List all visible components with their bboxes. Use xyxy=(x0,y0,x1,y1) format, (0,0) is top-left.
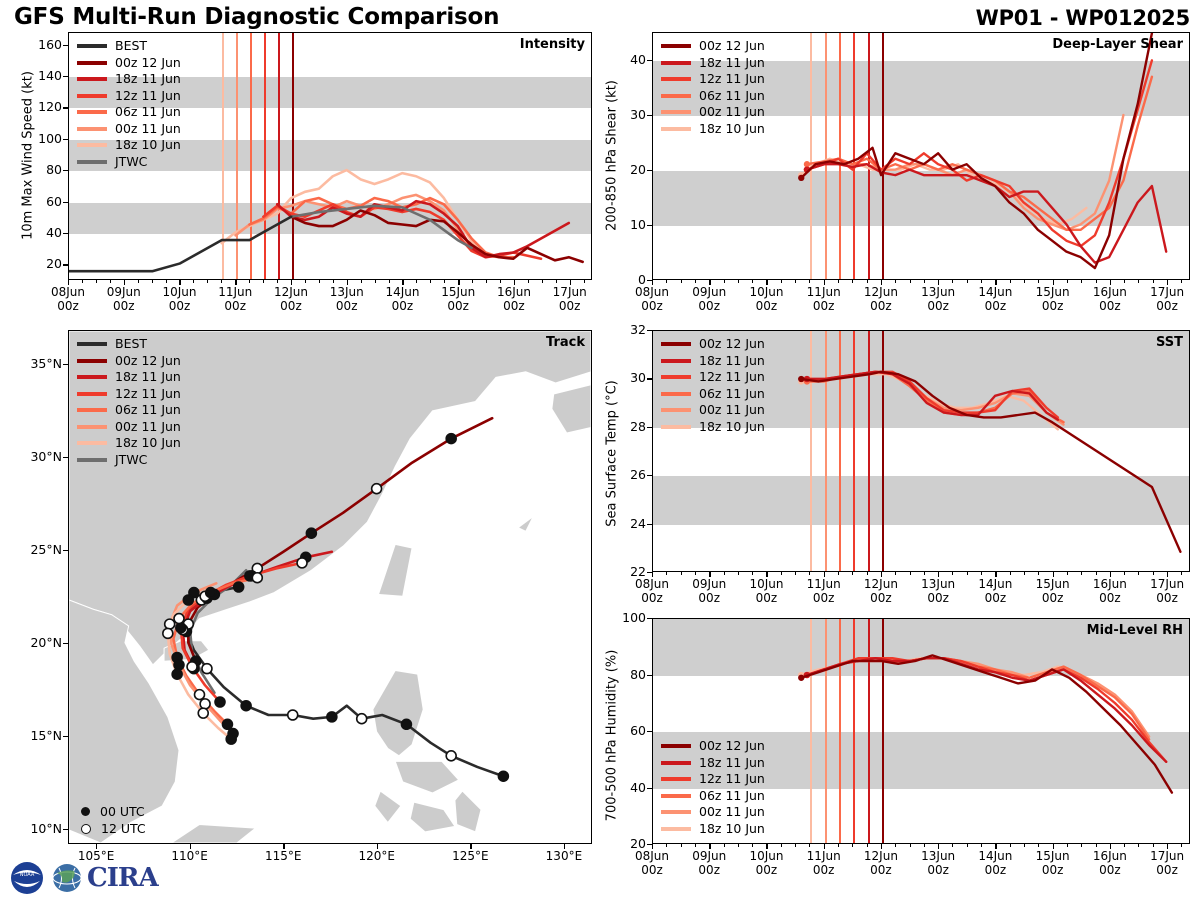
y-tick-mark xyxy=(647,330,652,331)
x-minor-tick xyxy=(666,280,667,283)
series-line-00z-12-jun xyxy=(801,655,1172,792)
series-line-00z-12-jun xyxy=(801,33,1152,268)
x-tick-mark xyxy=(1110,280,1111,285)
x-tick-day: 11Jun xyxy=(209,285,261,299)
legend-item-06z-11-jun: 06z 11 Jun xyxy=(77,402,181,419)
track-marker-00utc xyxy=(401,719,411,729)
lon-tick-mark xyxy=(190,844,191,849)
x-minor-tick xyxy=(695,280,696,283)
track-marker-12utc xyxy=(297,558,307,568)
x-tick-hour: 00z xyxy=(265,299,317,313)
x-tick-day: 13Jun xyxy=(321,285,373,299)
y-tick-label: 30 xyxy=(608,107,646,122)
legend-item-06z-11-jun: 06z 11 Jun xyxy=(77,104,181,121)
x-tick-mark xyxy=(652,844,653,849)
x-tick-hour: 00z xyxy=(42,299,94,313)
x-minor-tick xyxy=(681,572,682,575)
x-minor-tick xyxy=(924,572,925,575)
legend-color-swatch xyxy=(661,425,691,429)
x-minor-tick xyxy=(952,844,953,847)
x-tick-label: 10Jun00z xyxy=(740,285,792,313)
y-tick-mark xyxy=(647,524,652,525)
lon-tick-mark xyxy=(377,844,378,849)
y-tick-label: 30 xyxy=(608,370,646,385)
legend-item-00z-12-jun: 00z 12 Jun xyxy=(661,738,765,755)
x-tick-label: 15Jun00z xyxy=(1027,577,1079,605)
legend-color-swatch xyxy=(661,827,691,831)
x-minor-tick xyxy=(528,280,529,283)
x-tick-hour: 00z xyxy=(683,299,735,313)
y-tick-mark xyxy=(647,675,652,676)
x-minor-tick xyxy=(738,572,739,575)
legend-label: 18z 10 Jun xyxy=(699,823,765,836)
legend-label: 18z 10 Jun xyxy=(115,437,181,450)
lat-tick-label: 10°N xyxy=(16,821,62,836)
x-tick-label: 13Jun00z xyxy=(912,577,964,605)
x-tick-label: 09Jun00z xyxy=(683,849,735,877)
x-minor-tick xyxy=(809,844,810,847)
track-marker-12utc xyxy=(163,628,173,638)
track-marker-12utc xyxy=(165,619,175,629)
legend-color-swatch xyxy=(77,342,107,346)
x-tick-hour: 00z xyxy=(740,863,792,877)
lat-tick-label: 30°N xyxy=(16,449,62,464)
series-line-12z-11-jun xyxy=(807,60,1152,246)
y-tick-label: 160 xyxy=(24,37,62,52)
x-tick-label: 08Jun00z xyxy=(626,849,678,877)
series-line-12z-11-jun xyxy=(263,204,541,258)
x-tick-hour: 00z xyxy=(544,299,596,313)
legend-item-06z-11-jun: 06z 11 Jun xyxy=(661,386,765,403)
x-tick-day: 08Jun xyxy=(626,577,678,591)
track-map-panel[interactable]: Track BEST00z 12 Jun18z 11 Jun12z 11 Jun… xyxy=(68,330,592,844)
legend-label: 18z 10 Jun xyxy=(699,421,765,434)
x-minor-tick xyxy=(795,572,796,575)
x-minor-tick xyxy=(263,280,264,283)
x-tick-label: 14Jun00z xyxy=(969,577,1021,605)
series-line-00z-12-jun xyxy=(801,372,1180,552)
legend-item-00z-11-jun: 00z 11 Jun xyxy=(661,104,765,121)
x-minor-tick xyxy=(1124,844,1125,847)
lon-tick-label: 130°E xyxy=(534,849,594,863)
track-marker-00utc xyxy=(241,701,251,711)
track-marker-00utc xyxy=(306,528,316,538)
legend-item-18z-11-jun: 18z 11 Jun xyxy=(661,755,765,772)
y-tick-mark xyxy=(647,427,652,428)
x-tick-day: 15Jun xyxy=(1027,285,1079,299)
x-tick-mark xyxy=(709,280,710,285)
legend-item-18z-11-jun: 18z 11 Jun xyxy=(661,353,765,370)
legend-color-swatch xyxy=(661,408,691,412)
x-tick-label: 17Jun00z xyxy=(1141,849,1193,877)
x-tick-mark xyxy=(652,572,653,577)
track-marker-00utc xyxy=(226,734,236,744)
legend-color-swatch xyxy=(77,392,107,396)
x-tick-day: 11Jun xyxy=(798,285,850,299)
x-minor-tick xyxy=(910,280,911,283)
x-tick-label: 11Jun00z xyxy=(798,849,850,877)
y-tick-label: 10 xyxy=(608,217,646,232)
legend-item-best: BEST xyxy=(77,38,181,55)
x-minor-tick xyxy=(1010,572,1011,575)
intensity-panel: Intensity BEST00z 12 Jun18z 11 Jun12z 11… xyxy=(68,32,592,280)
legend-color-swatch xyxy=(661,44,691,48)
track-marker-12utc xyxy=(195,690,205,700)
y-tick-label: 20 xyxy=(24,256,62,271)
legend-item-06z-11-jun: 06z 11 Jun xyxy=(661,788,765,805)
x-tick-label: 12Jun00z xyxy=(855,577,907,605)
track-line-best xyxy=(186,587,503,776)
rh-panel-title: Mid-Level RH xyxy=(1087,623,1183,638)
legend-label: BEST xyxy=(115,40,147,53)
legend-label: 12z 11 Jun xyxy=(699,773,765,786)
x-minor-tick xyxy=(500,280,501,283)
x-minor-tick xyxy=(967,844,968,847)
x-minor-tick xyxy=(838,844,839,847)
x-minor-tick xyxy=(1138,280,1139,283)
y-tick-mark xyxy=(647,115,652,116)
x-tick-label: 13Jun00z xyxy=(912,849,964,877)
filled-circle-icon xyxy=(81,807,90,816)
series-start-marker xyxy=(798,175,804,181)
track-marker-00utc xyxy=(327,712,337,722)
track-panel-title: Track xyxy=(546,335,585,350)
x-tick-hour: 00z xyxy=(855,863,907,877)
x-tick-label: 16Jun00z xyxy=(1084,285,1136,313)
x-tick-label: 11Jun00z xyxy=(798,577,850,605)
legend-label: 18z 11 Jun xyxy=(699,355,765,368)
track-marker-00utc xyxy=(498,771,508,781)
y-tick-mark xyxy=(647,60,652,61)
legend-label: 06z 11 Jun xyxy=(699,388,765,401)
lon-tick-label: 110°E xyxy=(160,849,220,863)
lat-tick-label: 20°N xyxy=(16,635,62,650)
legend-item-12z-11-jun: 12z 11 Jun xyxy=(661,71,765,88)
x-minor-tick xyxy=(781,844,782,847)
x-tick-day: 10Jun xyxy=(740,849,792,863)
x-minor-tick xyxy=(1067,572,1068,575)
x-minor-tick xyxy=(952,280,953,283)
x-minor-tick xyxy=(952,572,953,575)
x-tick-hour: 00z xyxy=(1084,863,1136,877)
legend-color-swatch xyxy=(77,425,107,429)
legend-label: 00z 11 Jun xyxy=(699,404,765,417)
x-tick-hour: 00z xyxy=(376,299,428,313)
x-tick-hour: 00z xyxy=(1141,299,1193,313)
legend-label: 06z 11 Jun xyxy=(699,90,765,103)
legend-color-swatch xyxy=(661,61,691,65)
x-tick-mark xyxy=(68,280,69,285)
utc-legend-row: 12 UTC xyxy=(77,820,146,837)
x-tick-day: 17Jun xyxy=(1141,849,1193,863)
y-tick-label: 60 xyxy=(608,723,646,738)
x-tick-mark xyxy=(347,280,348,285)
x-minor-tick xyxy=(1024,280,1025,283)
x-minor-tick xyxy=(695,844,696,847)
intensity-legend: BEST00z 12 Jun18z 11 Jun12z 11 Jun06z 11… xyxy=(77,38,181,170)
x-minor-tick xyxy=(981,844,982,847)
y-tick-label: 32 xyxy=(608,322,646,337)
x-tick-day: 11Jun xyxy=(798,849,850,863)
x-minor-tick xyxy=(910,572,911,575)
x-tick-label: 16Jun00z xyxy=(1084,577,1136,605)
legend-color-swatch xyxy=(661,777,691,781)
x-tick-hour: 00z xyxy=(798,863,850,877)
legend-color-swatch xyxy=(77,441,107,445)
x-minor-tick xyxy=(895,844,896,847)
x-minor-tick xyxy=(361,280,362,283)
x-tick-mark xyxy=(995,844,996,849)
lat-tick-label: 25°N xyxy=(16,542,62,557)
landmass xyxy=(455,791,481,832)
x-tick-day: 14Jun xyxy=(969,577,1021,591)
lat-tick-mark xyxy=(63,829,68,830)
legend-label: BEST xyxy=(115,338,147,351)
x-tick-label: 15Jun00z xyxy=(432,285,484,313)
x-tick-day: 08Jun xyxy=(626,849,678,863)
x-minor-tick xyxy=(1181,572,1182,575)
x-tick-hour: 00z xyxy=(855,591,907,605)
x-tick-day: 17Jun xyxy=(1141,577,1193,591)
legend-item-12z-11-jun: 12z 11 Jun xyxy=(77,88,181,105)
x-tick-label: 12Jun00z xyxy=(855,849,907,877)
x-minor-tick xyxy=(852,844,853,847)
x-minor-tick xyxy=(249,280,250,283)
legend-item-18z-10-jun: 18z 10 Jun xyxy=(661,121,765,138)
y-tick-mark xyxy=(63,233,68,234)
utc-legend-label: 00 UTC xyxy=(100,804,145,819)
y-tick-mark xyxy=(647,378,652,379)
legend-label: 18z 11 Jun xyxy=(115,371,181,384)
x-minor-tick xyxy=(1024,572,1025,575)
legend-color-swatch xyxy=(77,94,107,98)
x-tick-label: 16Jun00z xyxy=(1084,849,1136,877)
x-tick-day: 13Jun xyxy=(912,577,964,591)
x-tick-day: 15Jun xyxy=(1027,849,1079,863)
legend-color-swatch xyxy=(661,392,691,396)
landmass xyxy=(552,385,591,433)
lat-tick-label: 15°N xyxy=(16,728,62,743)
x-tick-label: 14Jun00z xyxy=(376,285,428,313)
legend-color-swatch xyxy=(661,375,691,379)
x-tick-day: 09Jun xyxy=(683,285,735,299)
y-tick-label: 80 xyxy=(24,162,62,177)
legend-label: 12z 11 Jun xyxy=(115,388,181,401)
track-marker-12utc xyxy=(202,664,212,674)
x-minor-tick xyxy=(924,844,925,847)
x-tick-mark xyxy=(652,280,653,285)
legend-item-18z-11-jun: 18z 11 Jun xyxy=(77,369,181,386)
legend-label: 12z 11 Jun xyxy=(115,90,181,103)
footer-logo: NOAA CIRA xyxy=(8,860,158,896)
legend-item-18z-10-jun: 18z 10 Jun xyxy=(661,821,765,838)
x-tick-day: 16Jun xyxy=(1084,849,1136,863)
legend-item-00z-11-jun: 00z 11 Jun xyxy=(661,402,765,419)
track-marker-00utc xyxy=(215,697,225,707)
x-tick-mark xyxy=(1167,844,1168,849)
x-minor-tick xyxy=(867,572,868,575)
x-tick-hour: 00z xyxy=(626,591,678,605)
x-tick-mark xyxy=(766,572,767,577)
x-tick-day: 11Jun xyxy=(798,577,850,591)
x-tick-mark xyxy=(938,572,939,577)
track-marker-12utc xyxy=(252,573,262,583)
y-tick-mark xyxy=(647,225,652,226)
x-tick-hour: 00z xyxy=(912,863,964,877)
legend-item-18z-11-jun: 18z 11 Jun xyxy=(77,71,181,88)
x-minor-tick xyxy=(152,280,153,283)
legend-color-swatch xyxy=(77,77,107,81)
x-tick-label: 13Jun00z xyxy=(321,285,373,313)
x-tick-hour: 00z xyxy=(969,863,1021,877)
legend-color-swatch xyxy=(77,359,107,363)
legend-color-swatch xyxy=(77,110,107,114)
x-tick-hour: 00z xyxy=(1027,863,1079,877)
x-tick-day: 17Jun xyxy=(1141,285,1193,299)
legend-item-06z-11-jun: 06z 11 Jun xyxy=(661,88,765,105)
x-minor-tick xyxy=(1138,844,1139,847)
landmass xyxy=(375,791,401,823)
legend-color-swatch xyxy=(77,44,107,48)
lon-tick-label: 125°E xyxy=(440,849,500,863)
x-minor-tick xyxy=(82,280,83,283)
x-tick-mark xyxy=(766,280,767,285)
page-title: GFS Multi-Run Diagnostic Comparison xyxy=(14,4,499,30)
x-tick-label: 08Jun00z xyxy=(626,577,678,605)
legend-color-swatch xyxy=(661,761,691,765)
legend-label: 00z 11 Jun xyxy=(699,806,765,819)
track-marker-00utc xyxy=(234,582,244,592)
x-minor-tick xyxy=(1181,280,1182,283)
x-minor-tick xyxy=(416,280,417,283)
x-tick-mark xyxy=(881,572,882,577)
x-tick-day: 16Jun xyxy=(488,285,540,299)
lat-tick-mark xyxy=(63,643,68,644)
x-tick-day: 12Jun xyxy=(265,285,317,299)
legend-label: 00z 12 Jun xyxy=(699,338,765,351)
rh-legend: 00z 12 Jun18z 11 Jun12z 11 Jun06z 11 Jun… xyxy=(661,738,765,837)
x-minor-tick xyxy=(542,280,543,283)
x-tick-mark xyxy=(402,280,403,285)
track-marker-00utc xyxy=(174,660,184,670)
lat-tick-mark xyxy=(63,736,68,737)
x-minor-tick xyxy=(1081,844,1082,847)
x-tick-mark xyxy=(938,280,939,285)
x-tick-mark xyxy=(514,280,515,285)
x-tick-hour: 00z xyxy=(98,299,150,313)
x-minor-tick xyxy=(666,844,667,847)
x-tick-day: 09Jun xyxy=(683,849,735,863)
y-tick-label: 40 xyxy=(608,52,646,67)
x-minor-tick xyxy=(838,280,839,283)
legend-color-swatch xyxy=(77,375,107,379)
y-tick-mark xyxy=(647,170,652,171)
x-tick-hour: 00z xyxy=(1027,591,1079,605)
noaa-seal-icon: NOAA xyxy=(8,861,46,895)
legend-item-00z-12-jun: 00z 12 Jun xyxy=(77,55,181,72)
y-tick-label: 120 xyxy=(24,99,62,114)
legend-label: 06z 11 Jun xyxy=(699,790,765,803)
x-tick-mark xyxy=(995,572,996,577)
legend-color-swatch xyxy=(661,94,691,98)
x-minor-tick xyxy=(910,844,911,847)
x-minor-tick xyxy=(867,844,868,847)
x-minor-tick xyxy=(486,280,487,283)
x-minor-tick xyxy=(1081,572,1082,575)
x-minor-tick xyxy=(193,280,194,283)
svg-text:NOAA: NOAA xyxy=(20,872,35,878)
series-line-best xyxy=(69,217,291,271)
x-tick-label: 12Jun00z xyxy=(855,285,907,313)
x-minor-tick xyxy=(556,280,557,283)
track-marker-12utc xyxy=(200,699,210,709)
sst-legend: 00z 12 Jun18z 11 Jun12z 11 Jun06z 11 Jun… xyxy=(661,336,765,435)
x-tick-mark xyxy=(1053,280,1054,285)
x-tick-mark xyxy=(881,844,882,849)
utc-legend-row: 00 UTC xyxy=(77,803,146,820)
lon-tick-mark xyxy=(96,844,97,849)
x-minor-tick xyxy=(1096,844,1097,847)
legend-label: 00z 12 Jun xyxy=(699,40,765,53)
lat-tick-mark xyxy=(63,550,68,551)
x-minor-tick xyxy=(852,280,853,283)
x-minor-tick xyxy=(681,844,682,847)
x-tick-day: 15Jun xyxy=(1027,577,1079,591)
x-tick-mark xyxy=(824,280,825,285)
x-minor-tick xyxy=(1038,572,1039,575)
x-tick-mark xyxy=(1053,844,1054,849)
x-minor-tick xyxy=(724,280,725,283)
x-tick-hour: 00z xyxy=(153,299,205,313)
y-tick-mark xyxy=(63,264,68,265)
x-tick-mark xyxy=(570,280,571,285)
shear-legend: 00z 12 Jun18z 11 Jun12z 11 Jun06z 11 Jun… xyxy=(661,38,765,137)
x-tick-hour: 00z xyxy=(209,299,261,313)
series-start-marker xyxy=(798,376,804,382)
x-minor-tick xyxy=(838,572,839,575)
x-tick-mark xyxy=(995,280,996,285)
legend-color-swatch xyxy=(77,143,107,147)
x-minor-tick xyxy=(138,280,139,283)
y-tick-label: 26 xyxy=(608,467,646,482)
track-marker-00utc xyxy=(446,434,456,444)
x-tick-hour: 00z xyxy=(798,591,850,605)
x-tick-day: 10Jun xyxy=(153,285,205,299)
x-minor-tick xyxy=(166,280,167,283)
x-tick-label: 13Jun00z xyxy=(912,285,964,313)
x-minor-tick xyxy=(695,572,696,575)
x-minor-tick xyxy=(924,280,925,283)
x-tick-label: 10Jun00z xyxy=(153,285,205,313)
landmass xyxy=(395,761,458,793)
y-tick-mark xyxy=(647,788,652,789)
x-tick-hour: 00z xyxy=(1141,863,1193,877)
legend-label: 00z 11 Jun xyxy=(699,106,765,119)
x-minor-tick xyxy=(781,572,782,575)
x-minor-tick xyxy=(1153,844,1154,847)
track-marker-12utc xyxy=(187,662,197,672)
x-tick-label: 09Jun00z xyxy=(98,285,150,313)
x-tick-hour: 00z xyxy=(912,299,964,313)
x-tick-hour: 00z xyxy=(969,591,1021,605)
legend-label: JTWC xyxy=(115,454,147,467)
x-tick-mark xyxy=(709,572,710,577)
y-tick-label: 100 xyxy=(608,610,646,625)
legend-item-18z-10-jun: 18z 10 Jun xyxy=(77,435,181,452)
x-tick-label: 14Jun00z xyxy=(969,849,1021,877)
x-minor-tick xyxy=(1124,280,1125,283)
x-tick-mark xyxy=(179,280,180,285)
